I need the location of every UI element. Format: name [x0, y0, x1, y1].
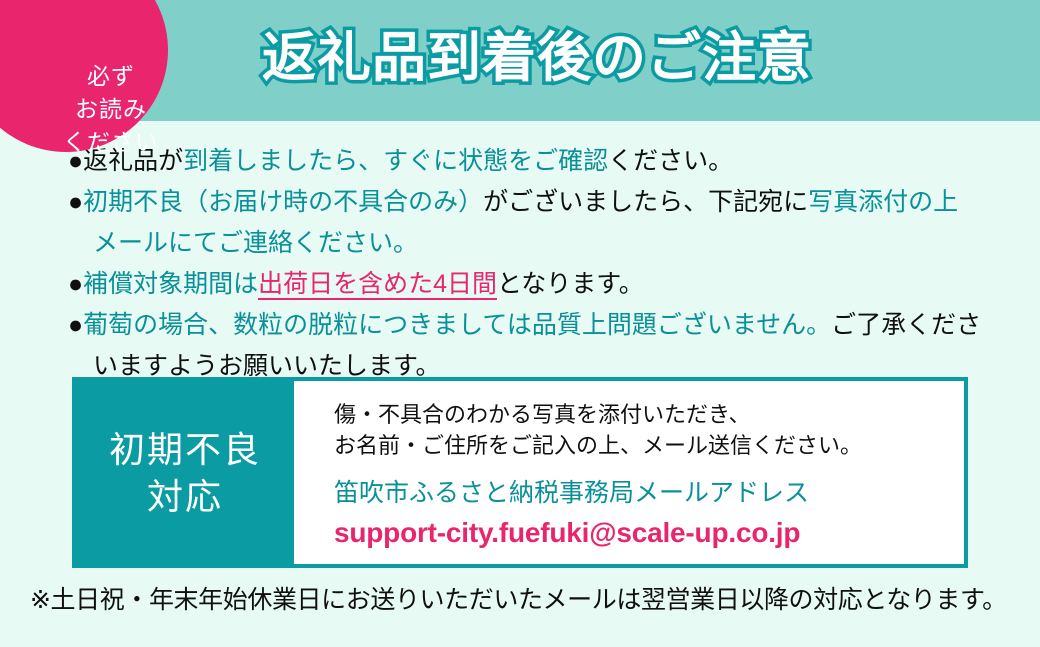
must-read-badge-line-1: お読み	[36, 93, 186, 126]
page-title: 返礼品到着後のご注意	[262, 22, 962, 94]
instruction-line: お名前・ご住所をご記入の上、メール送信ください。	[334, 430, 964, 461]
notice-bullet-line: ●葡萄の場合、数粒の脱粒につきましては品質上問題ございません。ご了承くださ	[68, 305, 1028, 346]
initial-defect-response-box: 初期不良対応 傷・不具合のわかる写真を添付いただき、お名前・ご住所をご記入の上、…	[72, 377, 968, 568]
notice-bullet-line: ●補償対象期間は出荷日を含めた4日間となります。	[68, 264, 1028, 305]
bullet-text-segment: がございましたら、下記宛に	[483, 188, 808, 216]
must-read-badge-label: 必ずお読みください	[36, 60, 186, 159]
bullet-text-segment: いますようお願いいたします。	[93, 352, 441, 380]
bullet-text-segment: 写真添付の上	[808, 188, 958, 216]
notice-card: 返礼品到着後のご注意 必ずお読みください ●返礼品が到着しましたら、すぐに状態を…	[0, 0, 1040, 647]
must-read-badge-line-2: ください	[36, 126, 186, 159]
notice-bullet-line: メールにてご連絡ください。	[68, 223, 1028, 264]
bullet-dot-icon: ●	[68, 188, 83, 216]
support-email-address[interactable]: support-city.fuefuki@scale-up.co.jp	[334, 514, 964, 552]
bullet-text-segment: 到着しましたら、すぐに状態をご確認	[183, 147, 608, 175]
notice-bullet-list: ●返礼品が到着しましたら、すぐに状態をご確認ください。●初期不良（お届け時の不具…	[68, 141, 1028, 387]
initial-defect-label-line-0: 初期不良	[109, 426, 261, 473]
initial-defect-label-line-1: 対応	[147, 473, 223, 520]
bullet-text-segment: 葡萄の場合、数粒の脱粒につきましては品質上問題ございません。	[83, 311, 831, 339]
bullet-text-segment: となります。	[497, 270, 644, 298]
bullet-text-segment: ご了承くださ	[831, 311, 981, 339]
initial-defect-response-label: 初期不良対応	[76, 381, 294, 564]
notice-bullet-line: ●返礼品が到着しましたら、すぐに状態をご確認ください。	[68, 141, 1028, 182]
must-read-badge-line-0: 必ず	[36, 60, 186, 93]
holiday-footnote: ※土日祝・年末年始休業日にお送りいただいたメールは翌営業日以降の対応となります。	[30, 583, 1007, 617]
bullet-text-segment: 出荷日を含めた4日間	[258, 270, 497, 300]
bullet-text-segment: ください。	[608, 147, 733, 175]
bullet-dot-icon: ●	[68, 270, 83, 298]
bullet-text-segment: 初期不良（お届け時の不具合のみ）	[83, 188, 483, 216]
initial-defect-response-body: 傷・不具合のわかる写真を添付いただき、お名前・ご住所をご記入の上、メール送信くだ…	[294, 381, 964, 564]
bullet-dot-icon: ●	[68, 311, 83, 339]
notice-bullet-line: ●初期不良（お届け時の不具合のみ）がございましたら、下記宛に写真添付の上	[68, 182, 1028, 223]
instruction-line: 傷・不具合のわかる写真を添付いただき、	[334, 399, 964, 430]
bullet-text-segment: メールにてご連絡ください。	[93, 229, 418, 257]
instruction-lines: 傷・不具合のわかる写真を添付いただき、お名前・ご住所をご記入の上、メール送信くだ…	[334, 399, 964, 461]
bullet-text-segment: 補償対象期間は	[83, 270, 258, 298]
email-address-label: 笛吹市ふるさと納税事務局メールアドレス	[334, 475, 964, 511]
